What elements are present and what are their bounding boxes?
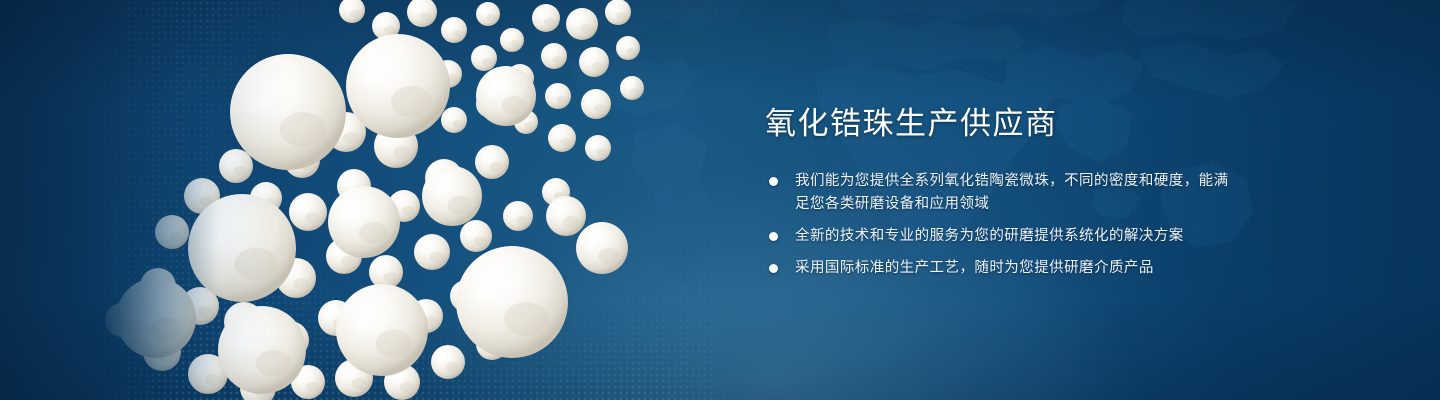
feature-list: 我们能为您提供全系列氧化锆陶瓷微珠，不同的密度和硬度，能满足您各类研磨设备和应用… [765, 170, 1235, 280]
list-item: 采用国际标准的生产工艺，随时为您提供研磨介质产品 [765, 257, 1235, 280]
list-item: 全新的技术和专业的服务为您的研磨提供系统化的解决方案 [765, 225, 1235, 248]
hero-banner: 氧化锆珠生产供应商 我们能为您提供全系列氧化锆陶瓷微珠，不同的密度和硬度，能满足… [0, 0, 1440, 400]
banner-copy: 氧化锆珠生产供应商 我们能为您提供全系列氧化锆陶瓷微珠，不同的密度和硬度，能满足… [765, 104, 1235, 280]
bullet-dot-icon [769, 264, 778, 273]
list-item: 我们能为您提供全系列氧化锆陶瓷微珠，不同的密度和硬度，能满足您各类研磨设备和应用… [765, 170, 1235, 216]
bullet-dot-icon [769, 177, 778, 186]
list-item-text: 我们能为您提供全系列氧化锆陶瓷微珠，不同的密度和硬度，能满足您各类研磨设备和应用… [795, 173, 1229, 212]
list-item-text: 采用国际标准的生产工艺，随时为您提供研磨介质产品 [795, 260, 1154, 276]
zirconia-beads-photo [96, 0, 736, 400]
page-title: 氧化锆珠生产供应商 [765, 104, 1235, 144]
bullet-dot-icon [769, 232, 778, 241]
list-item-text: 全新的技术和专业的服务为您的研磨提供系统化的解决方案 [795, 228, 1184, 244]
